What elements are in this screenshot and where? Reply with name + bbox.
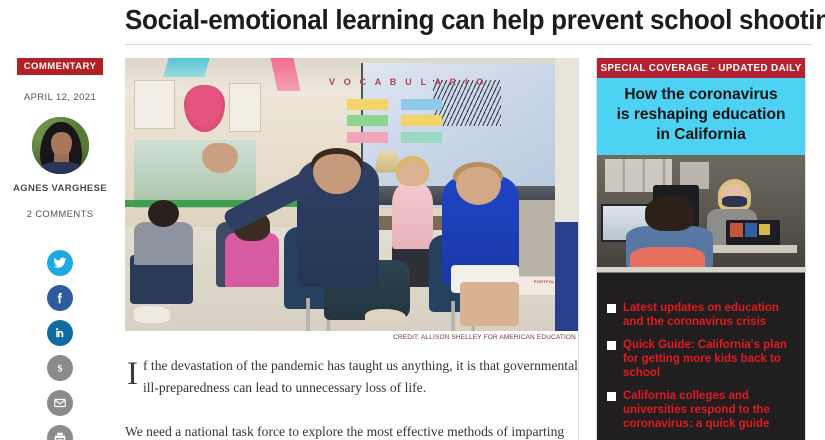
- promo-photo: [597, 155, 805, 291]
- promo-headline[interactable]: How the coronavirus is reshaping educati…: [597, 78, 805, 155]
- promo-link-text: California colleges and universities res…: [623, 389, 795, 431]
- share-buttons: $: [0, 250, 120, 440]
- status-badge: COMMENTARY: [17, 58, 104, 75]
- page-title: Social-emotional learning can help preve…: [125, 4, 812, 36]
- photo-student-shoe: [134, 306, 170, 322]
- promo-photo-laptop-sticker: [745, 223, 757, 237]
- promo-headline-line-1: How the coronavirus: [603, 85, 799, 105]
- square-bullet-icon: [607, 304, 616, 313]
- promo-link-list: Latest updates on education and the coro…: [597, 291, 805, 440]
- photo-student-body: [225, 233, 279, 288]
- promo-photo-student-head: [645, 196, 695, 231]
- share-donate-button[interactable]: $: [47, 355, 73, 381]
- promo-photo-foreground: [597, 267, 805, 291]
- publish-date: APRIL 12, 2021: [0, 92, 120, 103]
- photo-word-card: [401, 99, 442, 110]
- promo-photo-laptop-sticker: [730, 223, 742, 237]
- photo-window: [134, 140, 256, 208]
- promo-headline-line-2: is reshaping education: [603, 105, 799, 125]
- photo-boy-blue-shirt-legs: [460, 282, 519, 326]
- headline-divider: [125, 44, 812, 45]
- article-body-column: V O C A B U L A R I O PORTFOLIO: [125, 58, 578, 440]
- square-bullet-icon: [607, 392, 616, 401]
- article-body: I f the devastation of the pandemic has …: [125, 355, 578, 440]
- photo-student-body: [134, 222, 193, 266]
- photo-right-edge: [555, 58, 578, 331]
- photo-word-card: [347, 132, 388, 143]
- list-item[interactable]: Latest updates on education and the coro…: [607, 301, 795, 329]
- email-icon: [53, 396, 67, 410]
- photo-word-card: [347, 115, 388, 126]
- share-linkedin-button[interactable]: [47, 320, 73, 346]
- paragraph-2: We need a national task force to explore…: [125, 421, 578, 440]
- comments-count[interactable]: 2 COMMENTS: [0, 209, 120, 220]
- special-coverage-promo: SPECIAL COVERAGE - UPDATED DAILY How the…: [596, 58, 806, 440]
- promo-photo-desk: [705, 245, 797, 253]
- photo-shoe: [365, 309, 406, 325]
- print-icon: [53, 431, 67, 440]
- hero-photo: V O C A B U L A R I O PORTFOLIO: [125, 58, 578, 331]
- promo-photo-laptop-sticker: [759, 224, 769, 235]
- share-twitter-button[interactable]: [47, 250, 73, 276]
- photo-poster: [134, 80, 175, 129]
- facebook-icon: [53, 291, 67, 305]
- article-page: Social-emotional learning can help preve…: [0, 0, 825, 440]
- photo-credit: CREDIT: ALLISON SHELLEY FOR AMERICAN EDU…: [125, 331, 578, 341]
- author-name[interactable]: AGNES VARGHESE: [0, 183, 120, 194]
- photo-wall-text: V O C A B U L A R I O: [329, 77, 487, 87]
- column-divider: [578, 58, 579, 440]
- linkedin-icon: [53, 326, 67, 340]
- share-print-button[interactable]: [47, 425, 73, 440]
- photo-streamer: [163, 58, 209, 77]
- article-headline: Social-emotional learning can help preve…: [125, 4, 774, 36]
- promo-link-text: Quick Guide: California's plan for getti…: [623, 338, 795, 380]
- article-meta-rail: COMMENTARY APRIL 12, 2021 AGNES VARGHESE…: [0, 55, 120, 440]
- promo-headline-line-3: in California: [603, 125, 799, 145]
- promo-link-text: Latest updates on education and the coro…: [623, 301, 795, 329]
- drop-cap: I: [127, 356, 138, 392]
- lede-paragraph: I f the devastation of the pandemic has …: [125, 355, 578, 399]
- photo-word-card: [347, 99, 388, 110]
- promo-photo-face-mask: [722, 196, 747, 207]
- share-facebook-button[interactable]: [47, 285, 73, 311]
- photo-boy-raising-hand-hand: [202, 143, 238, 173]
- photo-teacher-body: [392, 184, 433, 250]
- lede-text: f the devastation of the pandemic has ta…: [143, 358, 578, 395]
- photo-word-card: [401, 115, 442, 126]
- avatar: [32, 117, 89, 174]
- photo-poster: [229, 83, 261, 132]
- twitter-icon: [53, 256, 67, 270]
- dollar-icon: $: [53, 361, 67, 375]
- photo-word-card: [401, 132, 442, 143]
- list-item[interactable]: Quick Guide: California's plan for getti…: [607, 338, 795, 380]
- share-email-button[interactable]: [47, 390, 73, 416]
- avatar-shirt: [41, 162, 81, 174]
- svg-text:$: $: [58, 364, 63, 375]
- list-item[interactable]: California colleges and universities res…: [607, 389, 795, 431]
- promo-kicker: SPECIAL COVERAGE - UPDATED DAILY: [597, 58, 805, 78]
- square-bullet-icon: [607, 341, 616, 350]
